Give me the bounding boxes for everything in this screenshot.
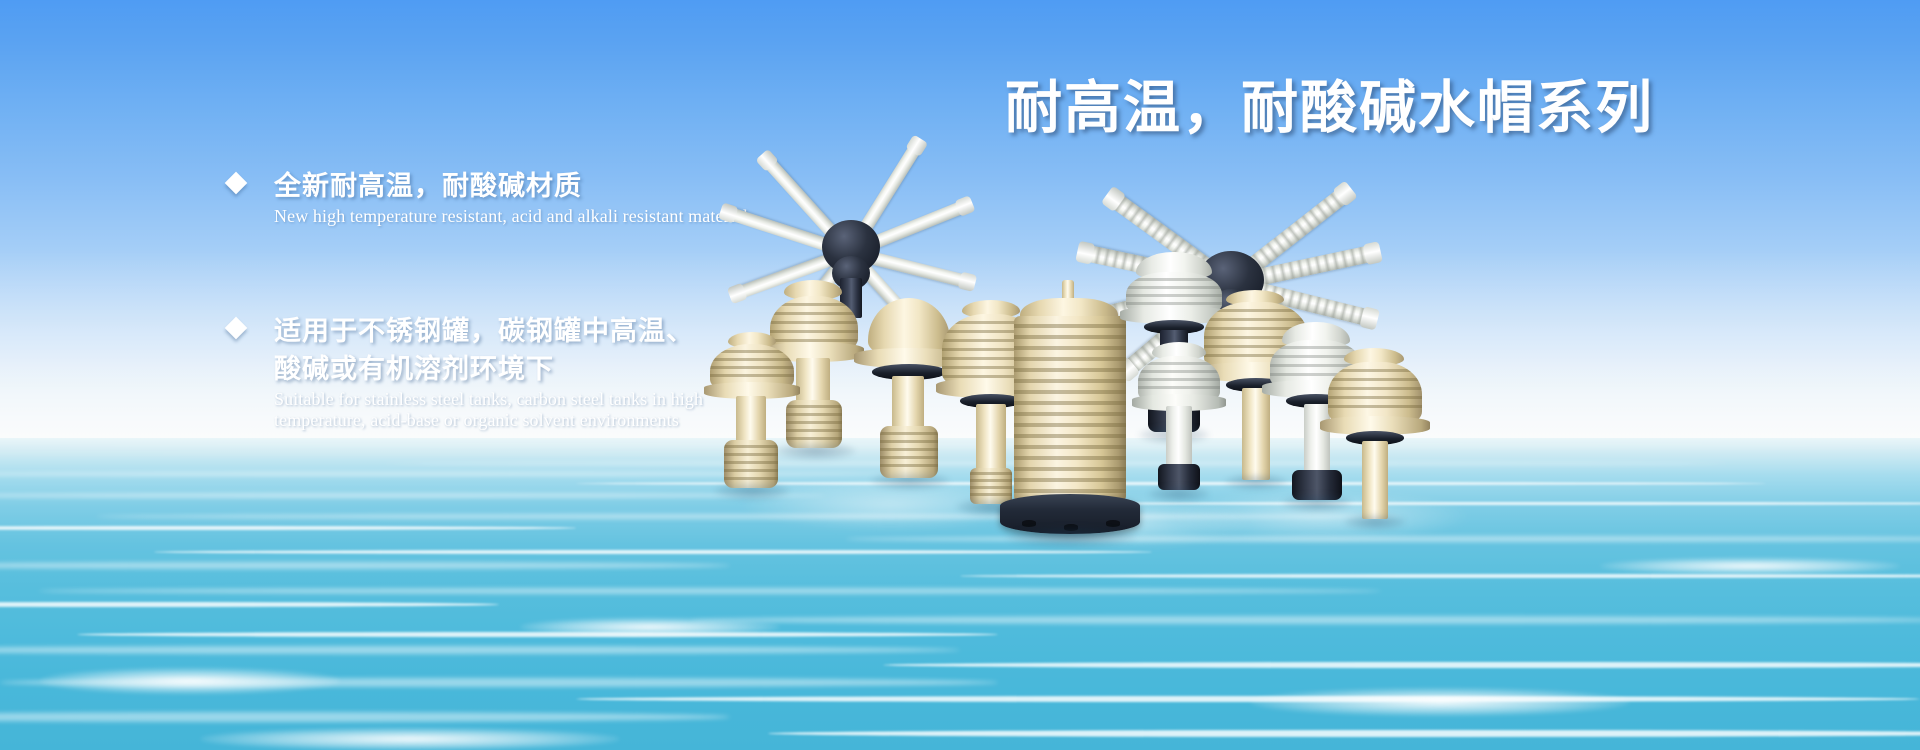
feature-1-cn-line-1: 全新耐高温，耐酸碱材质 <box>274 168 748 206</box>
feature-item-1: 全新耐高温，耐酸碱材质 New high temperature resista… <box>228 168 748 227</box>
product-white-slotted-small <box>1130 342 1228 542</box>
cylinder-slot-body <box>1014 316 1126 502</box>
feature-item-2: 适用于不锈钢罐，碳钢罐中高温、 酸碱或有机溶剂环境下 Suitable for … <box>228 313 774 431</box>
feature-2-en: Suitable for stainless steel tanks, carb… <box>274 389 774 431</box>
product-cream-dome-small <box>700 332 804 512</box>
product-cluster <box>700 110 1490 540</box>
feature-1-en: New high temperature resistant, acid and… <box>274 206 748 227</box>
product-cream-dome-right <box>1320 348 1430 568</box>
feature-2-cn-line-1: 适用于不锈钢罐，碳钢罐中高温、 <box>274 313 774 351</box>
feature-2-cn-line-2: 酸碱或有机溶剂环境下 <box>274 351 774 389</box>
diamond-bullet-icon <box>225 172 248 195</box>
banner-root: 耐高温，耐酸碱水帽系列 全新耐高温，耐酸碱材质 New high tempera… <box>0 0 1920 750</box>
diamond-bullet-icon <box>225 317 248 340</box>
